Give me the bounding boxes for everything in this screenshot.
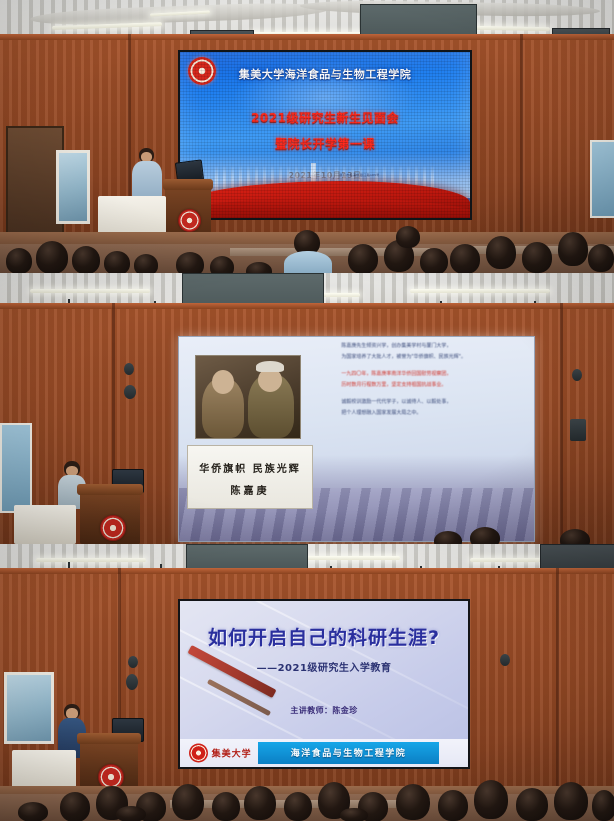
audience-rows	[0, 762, 614, 821]
wall-seam	[520, 34, 523, 234]
audience-head	[36, 241, 68, 273]
slide-paragraph: 陈嘉庚先生倾资兴学，创办集美学村与厦门大学，	[341, 343, 523, 351]
audience-head	[560, 529, 590, 544]
slide-paragraph: 把个人理想融入国家发展大局之中。	[341, 410, 523, 418]
photo-cap	[256, 361, 284, 372]
university-seal-icon	[189, 743, 208, 762]
audience-head	[396, 784, 430, 820]
panel-historical-slide: 华侨旗帜 民族光辉 陈嘉庚 陈嘉庚先生倾资兴学，创办集美学村与厦门大学， 为国家…	[0, 273, 614, 544]
audience-head	[474, 780, 508, 819]
photo-collage: 集美大学海洋食品与生物工程学院 2021级研究生新生见面会 暨院长开学第一课 2…	[0, 0, 614, 821]
slide-speaker: 主讲教师：陈金珍	[180, 705, 468, 716]
historical-photo	[195, 355, 301, 439]
audience-head	[558, 232, 588, 266]
wall-fixture	[572, 369, 582, 381]
audience-rows	[0, 218, 614, 273]
ceiling-light	[410, 289, 550, 293]
led-display: 集美大学海洋食品与生物工程学院 2021级研究生新生见面会 暨院长开学第一课 2…	[178, 50, 472, 220]
audience-head	[486, 236, 516, 269]
audience-head	[340, 808, 368, 821]
slide-text-block: 陈嘉庚先生倾资兴学，创办集美学村与厦门大学， 为国家培养了大批人才，被誉为"华侨…	[341, 343, 523, 420]
audience-head	[244, 786, 276, 820]
slide-paragraph: 诚毅校训激励一代代学子，以诚待人、以毅处事，	[341, 399, 523, 407]
audience-head	[116, 806, 146, 821]
led-pixel-grid	[180, 52, 470, 218]
slide-paragraph: 为国家培养了大批人才，被誉为"华侨旗帜、民族光辉"。	[341, 354, 523, 362]
audience-head	[470, 527, 500, 544]
wall-seam	[560, 303, 563, 544]
side-window	[56, 150, 90, 224]
audience-head	[516, 788, 548, 821]
lectern-top	[77, 484, 143, 495]
wall-poster	[0, 423, 32, 513]
calligraphy-box: 华侨旗帜 民族光辉 陈嘉庚	[187, 445, 313, 509]
calligraphy-line2: 陈嘉庚	[188, 482, 312, 497]
panel-title-slide: 如何开启自己的科研生涯? ——2021级研究生入学教育 主讲教师：陈金珍 集美大…	[0, 544, 614, 821]
audience-head	[450, 244, 480, 273]
slide-subtitle: ——2021级研究生入学教育	[180, 659, 468, 674]
audience-head	[134, 254, 158, 273]
audience-head	[104, 251, 130, 273]
ceiling-light	[36, 558, 146, 562]
wall-fixture	[128, 656, 138, 668]
wall-trim	[0, 568, 614, 574]
slide-paragraph-highlight: 一九四〇年，陈嘉庚率南洋华侨回国慰劳视察团，	[341, 371, 523, 379]
audience-head	[6, 248, 32, 273]
audience-head	[420, 248, 448, 273]
audience-head	[434, 531, 462, 544]
audience-head	[210, 256, 234, 273]
audience-head	[438, 790, 468, 821]
audience-head	[246, 262, 272, 273]
audience-head	[396, 226, 420, 248]
audience-head	[18, 802, 48, 821]
panel-opening-ceremony: 集美大学海洋食品与生物工程学院 2021级研究生新生见面会 暨院长开学第一课 2…	[0, 0, 614, 273]
calligraphy-line1: 华侨旗帜 民族光辉	[188, 460, 312, 475]
wall-poster	[590, 140, 614, 218]
audience-head	[72, 246, 100, 273]
audience-head	[592, 790, 614, 821]
audience-head	[284, 792, 312, 821]
footer-college-name: 海洋食品与生物工程学院	[291, 746, 407, 759]
audience-head	[176, 252, 204, 273]
footer-university-name: 集美大学	[212, 746, 252, 759]
presenter-body	[132, 161, 162, 199]
wall-seam	[556, 568, 559, 794]
audience-head	[172, 784, 204, 820]
audience-head	[554, 782, 588, 820]
audience-head	[60, 792, 90, 821]
slide-title: 如何开启自己的科研生涯?	[180, 623, 468, 650]
wall-fixture	[124, 385, 136, 399]
wall-fixture	[570, 419, 586, 441]
wall-trim	[0, 303, 614, 309]
wall-fixture	[500, 654, 510, 666]
ceiling-light	[30, 289, 150, 293]
wall-fixture	[126, 674, 138, 690]
audience-head	[348, 244, 378, 273]
wall-fixture	[124, 363, 134, 375]
slide-paragraph-highlight: 历时数月行程数万里，坚定支持祖国抗战事业。	[341, 382, 523, 390]
side-window	[4, 672, 54, 744]
audience-head	[588, 244, 614, 272]
title-slide-screen: 如何开启自己的科研生涯? ——2021级研究生入学教育 主讲教师：陈金珍 集美大…	[178, 599, 470, 769]
audience-rows	[0, 523, 614, 544]
projection-screen: 华侨旗帜 民族光辉 陈嘉庚 陈嘉庚先生倾资兴学，创办集美学村与厦门大学， 为国家…	[178, 336, 535, 542]
audience-head	[212, 792, 240, 821]
lectern-top	[77, 733, 141, 744]
photo-head-left	[212, 370, 234, 394]
audience-head	[522, 242, 552, 273]
lectern-top	[163, 179, 214, 190]
footer-college-bar: 海洋食品与生物工程学院	[258, 742, 439, 763]
audience-shoulders	[284, 251, 332, 273]
